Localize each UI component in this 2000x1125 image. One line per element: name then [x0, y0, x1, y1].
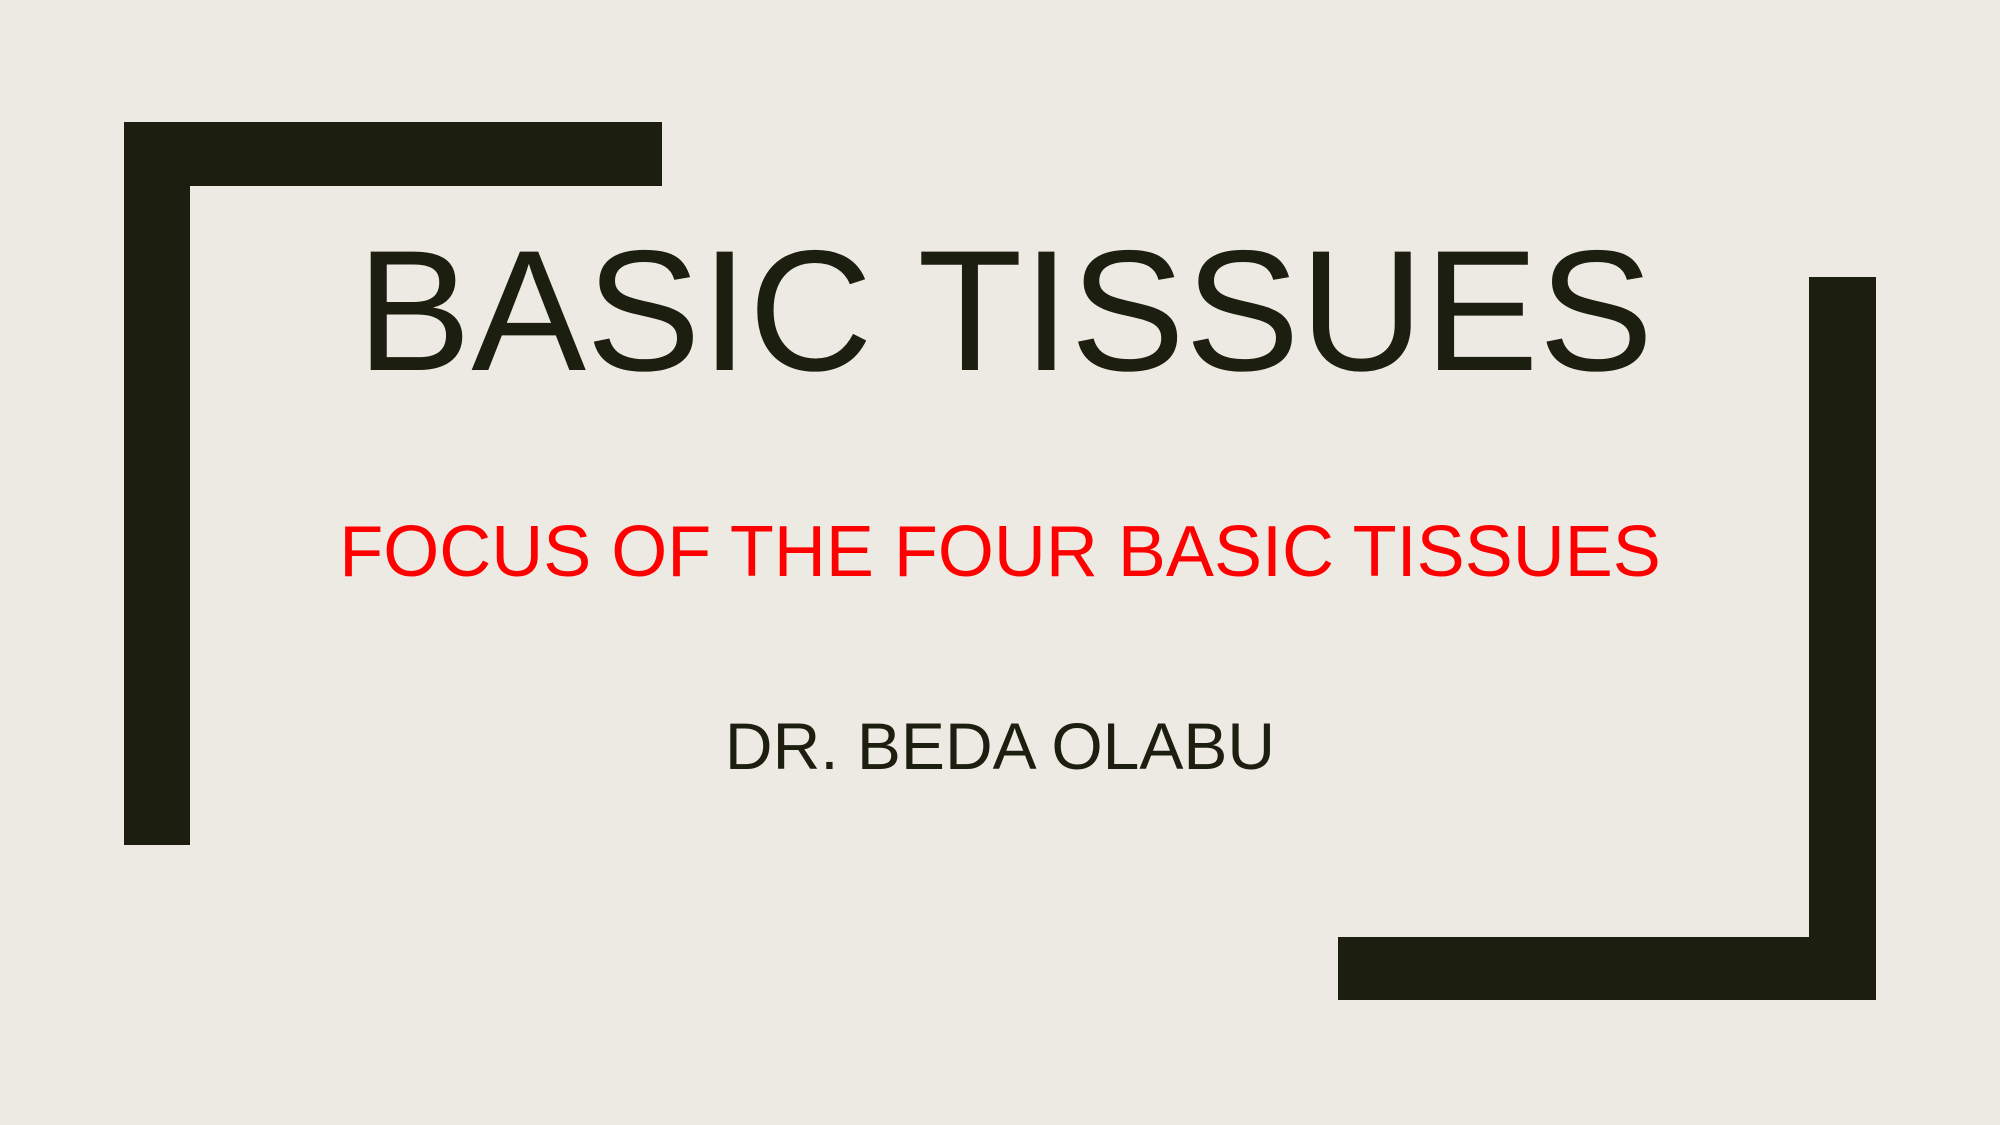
presentation-slide: BASIC TISSUES FOCUS OF THE FOUR BASIC TI… [0, 0, 2000, 1125]
slide-text-block: BASIC TISSUES FOCUS OF THE FOUR BASIC TI… [0, 0, 2000, 1125]
slide-title: BASIC TISSUES [0, 215, 2000, 408]
slide-subtitle: FOCUS OF THE FOUR BASIC TISSUES [0, 512, 2000, 593]
slide-presenter-name: DR. BEDA OLABU [0, 710, 2000, 784]
